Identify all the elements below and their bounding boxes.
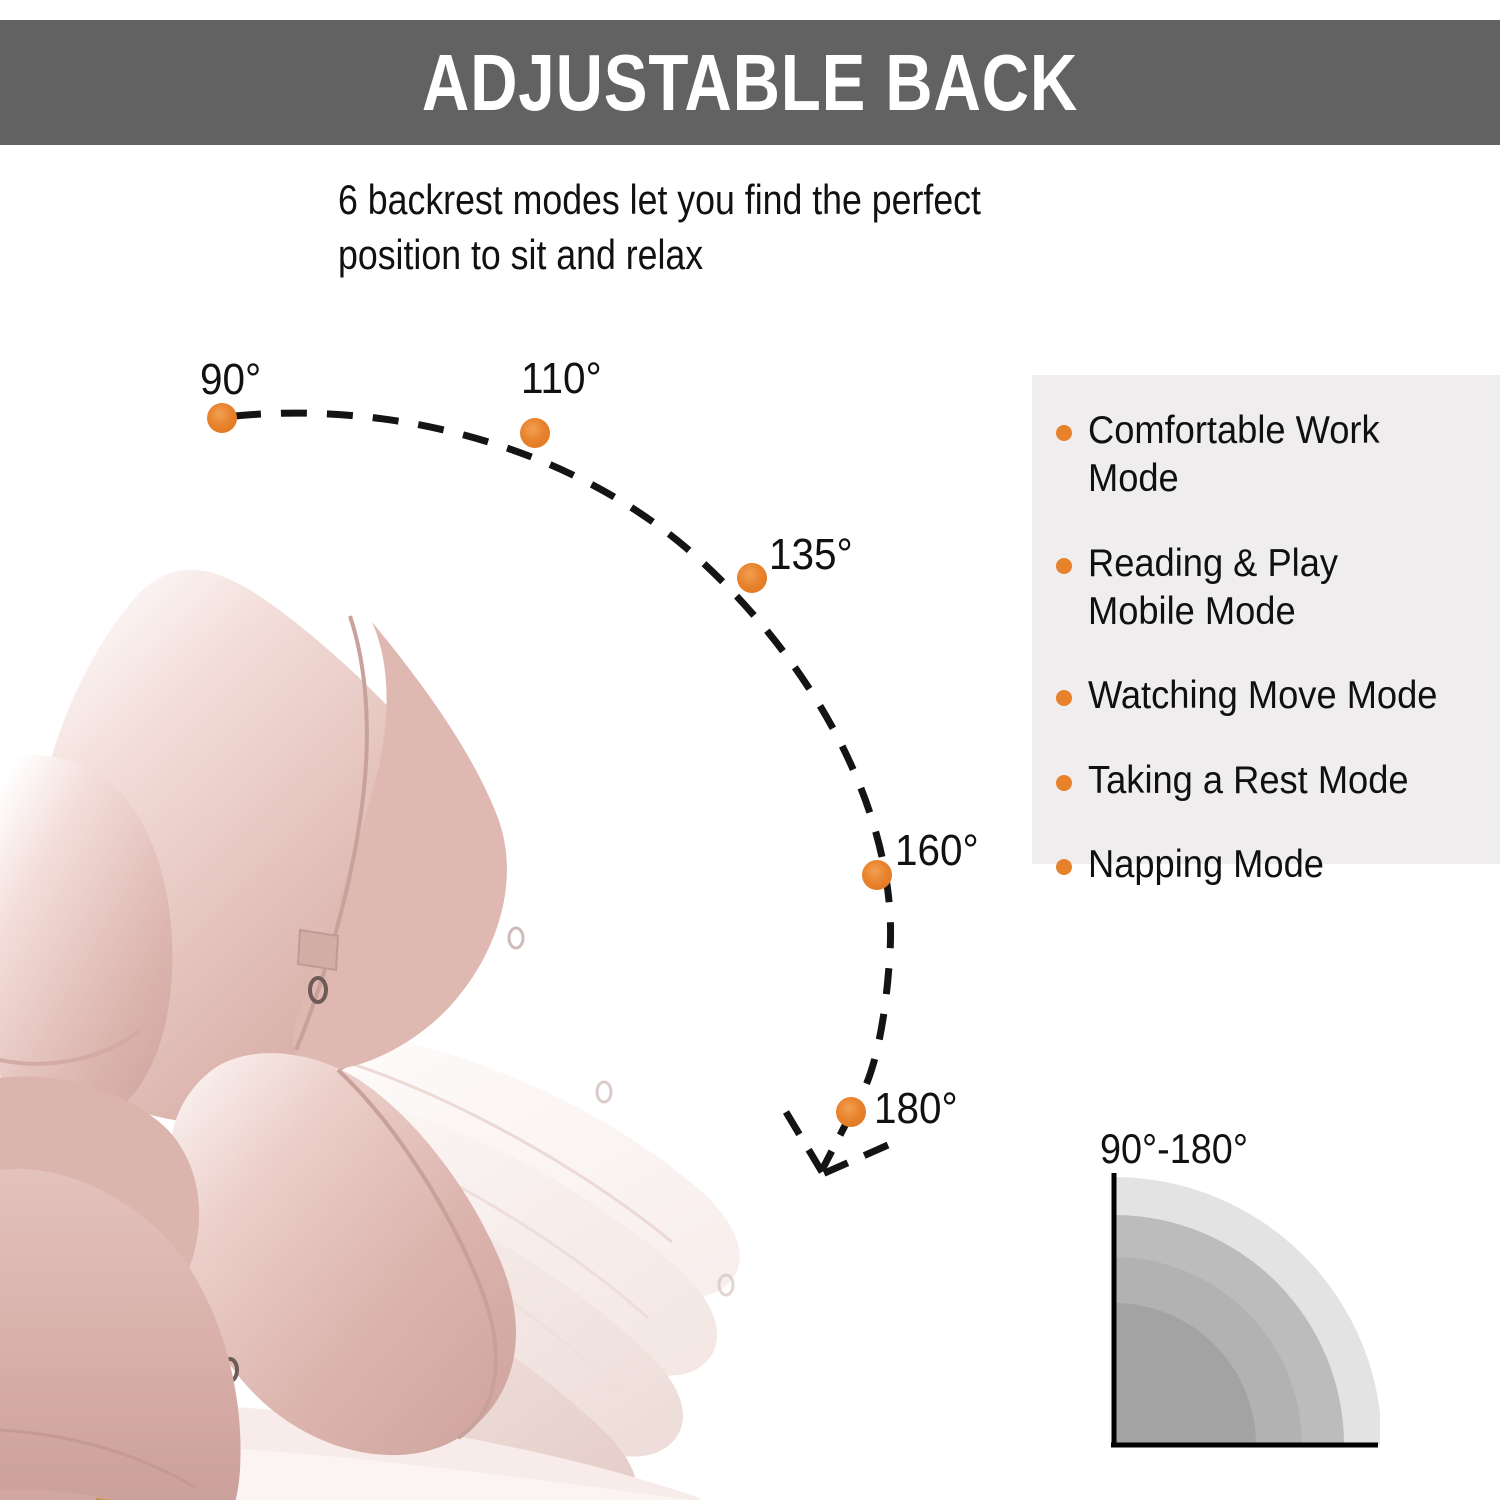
- list-item: Taking a Rest Mode: [1056, 757, 1486, 805]
- feature-label: Watching Move Mode: [1088, 672, 1437, 720]
- angle-dot-90: [207, 403, 237, 433]
- angle-label-90: 90°: [200, 358, 261, 402]
- product-feature-graphic: ADJUSTABLE BACK 6 backrest modes let you…: [0, 0, 1500, 1500]
- angle-label-135: 135°: [769, 533, 853, 577]
- angle-dot-180: [836, 1097, 866, 1127]
- bullet-icon: [1056, 775, 1072, 791]
- feature-label: Reading & Play Mobile Mode: [1088, 540, 1338, 637]
- feature-label: Comfortable Work Mode: [1088, 407, 1458, 504]
- chair-photo: [0, 430, 760, 1500]
- quarter-circle-diagram: [1100, 1135, 1380, 1460]
- subtitle-text: 6 backrest modes let you find the perfec…: [338, 172, 1103, 283]
- feature-label: Taking a Rest Mode: [1088, 757, 1409, 805]
- angle-label-180: 180°: [874, 1087, 958, 1131]
- header-banner: ADJUSTABLE BACK: [0, 20, 1500, 145]
- list-item: Watching Move Mode: [1056, 672, 1486, 720]
- bullet-icon: [1056, 859, 1072, 875]
- angle-dot-160: [862, 860, 892, 890]
- list-item: Reading & Play Mobile Mode: [1056, 540, 1486, 637]
- bullet-icon: [1056, 690, 1072, 706]
- feature-list: Comfortable Work Mode Reading & Play Mob…: [1056, 407, 1486, 926]
- bullet-icon: [1056, 558, 1072, 574]
- angle-range-graphic: [1100, 1135, 1380, 1460]
- list-item: Napping Mode: [1056, 841, 1486, 889]
- bullet-icon: [1056, 425, 1072, 441]
- angle-label-160: 160°: [895, 829, 979, 873]
- chair-illustration: [0, 430, 760, 1500]
- page-title: ADJUSTABLE BACK: [135, 20, 1365, 145]
- list-item: Comfortable Work Mode: [1056, 407, 1486, 504]
- feature-label: Napping Mode: [1088, 841, 1324, 889]
- feature-panel: Comfortable Work Mode Reading & Play Mob…: [1032, 375, 1500, 864]
- angle-label-110: 110°: [521, 357, 602, 401]
